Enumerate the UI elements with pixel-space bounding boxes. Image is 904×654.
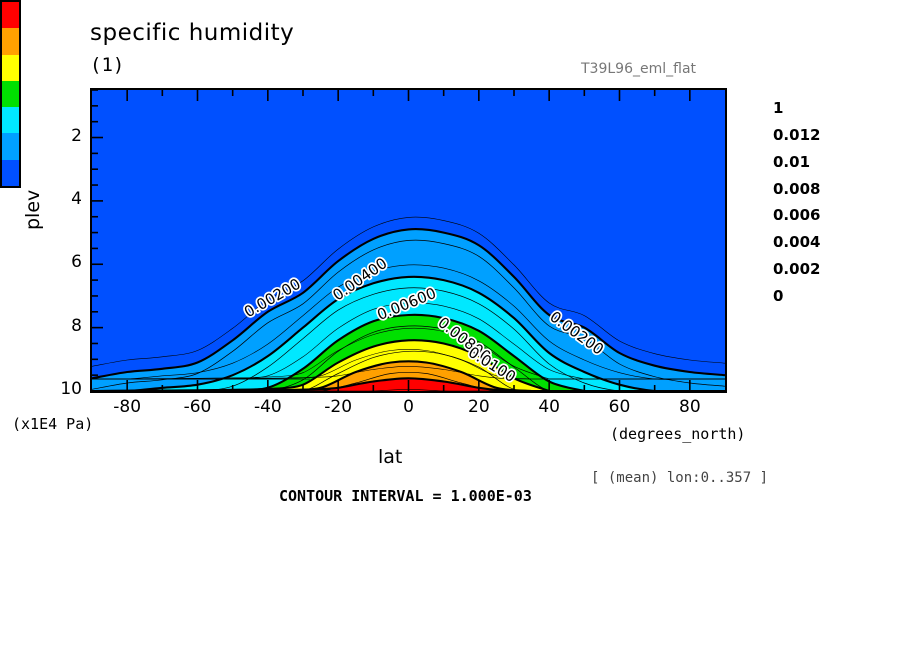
x-tick-label: -60	[168, 397, 228, 417]
y-tick-label: 8	[42, 316, 82, 336]
colorbar-tick-label: 0.006	[773, 206, 820, 224]
colorbar-tick-label: 0.002	[773, 260, 820, 278]
x-tick-label: 80	[660, 397, 720, 417]
x-tick-label: 20	[449, 397, 509, 417]
colorbar-tick-label: 0.008	[773, 180, 820, 198]
colorbar-segment	[2, 2, 19, 28]
y-axis-unit-label: (x1E4 Pa)	[12, 415, 93, 433]
colorbar-segment	[2, 160, 19, 186]
x-tick-label: -20	[308, 397, 368, 417]
colorbar-tick-label: 0.004	[773, 233, 820, 251]
colorbar-tick-label: 0.012	[773, 126, 820, 144]
colorbar-labels: 10.0120.010.0080.0060.0040.0020	[745, 107, 904, 295]
x-tick-label: 40	[519, 397, 579, 417]
colorbar-tick-label: 0.01	[773, 153, 810, 171]
contour-plot-area: 0.002000.004000.006000.008000.01000.0020…	[90, 88, 727, 393]
y-tick-label: 2	[42, 126, 82, 146]
colorbar	[0, 0, 21, 188]
x-tick-label: -80	[97, 397, 157, 417]
mean-range-note: [ (mean) lon:0..357 ]	[591, 470, 768, 486]
panel-number: (1)	[90, 54, 124, 76]
experiment-id-label: T39L96_eml_flat	[581, 61, 696, 77]
contour-field: 0.002000.004000.006000.008000.01000.0020…	[92, 90, 725, 391]
x-axis-unit-label: (degrees_north)	[610, 425, 745, 443]
colorbar-tick-label: 1	[773, 99, 783, 117]
colorbar-segment	[2, 81, 19, 107]
colorbar-segment	[2, 107, 19, 133]
colorbar-segment	[2, 133, 19, 159]
x-axis-label: lat	[378, 446, 402, 468]
colorbar-tick-label: 0	[773, 287, 783, 305]
contour-interval-label: CONTOUR INTERVAL = 1.000E-03	[279, 487, 532, 505]
y-axis-label: plev	[22, 190, 44, 230]
y-tick-label: 6	[42, 252, 82, 272]
y-tick-label: 10	[42, 379, 82, 399]
colorbar-segment	[2, 55, 19, 81]
colorbar-segment	[2, 28, 19, 54]
page-title: specific humidity	[90, 20, 294, 46]
x-tick-label: 0	[379, 397, 439, 417]
y-tick-label: 4	[42, 189, 82, 209]
x-tick-label: 60	[590, 397, 650, 417]
x-tick-label: -40	[238, 397, 298, 417]
